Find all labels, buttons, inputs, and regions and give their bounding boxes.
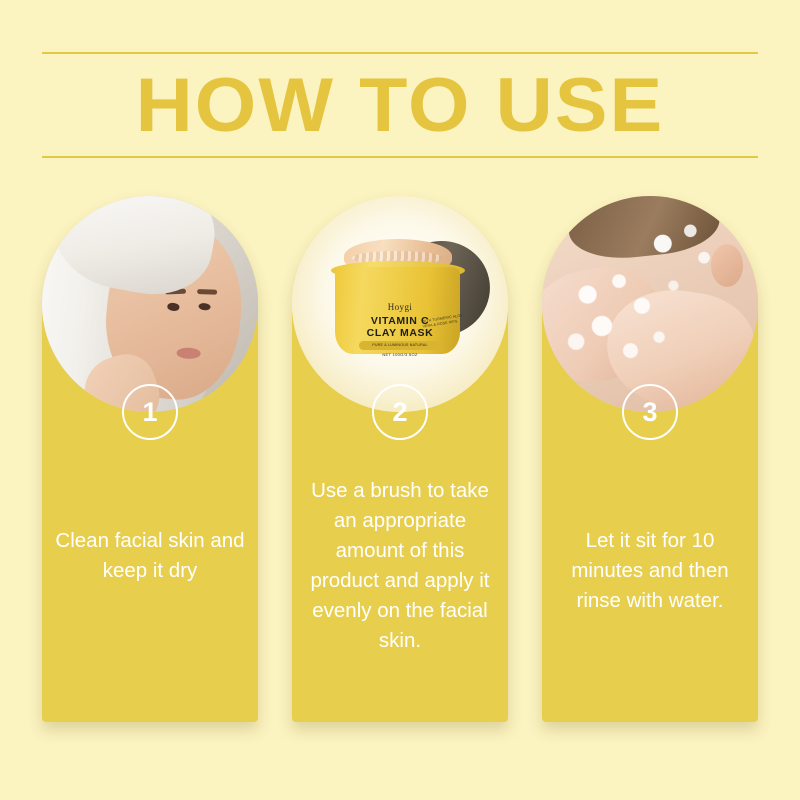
eyebrow-right [197,289,217,295]
eye-right [198,302,211,310]
product-name: VITAMIN CCLAY MASK [292,315,508,339]
step-card-2: Hoygi VITAMIN CCLAY MASK WITH TURMERIC A… [292,196,508,722]
product-net-weight: NET 100G/3.5OZ [292,352,508,357]
step-3-photo [542,196,758,412]
step-caption-2: Use a brush to take an appropriate amoun… [304,476,496,656]
product-name-line1: VITAMIN C [371,315,429,327]
step-caption-1: Clean facial skin and keep it dry [54,526,246,586]
step-caption-3: Let it sit for 10 minutes and then rinse… [554,526,746,616]
infographic-page: HOW TO USE 1 Clean facial skin and keep [0,0,800,800]
step-number-badge-2: 2 [372,384,428,440]
step-card-3: 3 Let it sit for 10 minutes and then rin… [542,196,758,722]
page-header: HOW TO USE [42,52,758,158]
title-rule-top [42,52,758,54]
title-rule-bottom [42,156,758,158]
product-pill-banner: PURE & LUMINOUS NATURAL [359,341,441,351]
step-card-1: 1 Clean facial skin and keep it dry [42,196,258,722]
step-1-photo [42,196,258,412]
step-number-badge-1: 1 [122,384,178,440]
product-brand: Hoygi [292,302,508,312]
steps-row: 1 Clean facial skin and keep it dry Hoyg… [42,196,758,722]
step-number-badge-3: 3 [622,384,678,440]
eye-left [167,303,180,311]
step-2-photo: Hoygi VITAMIN CCLAY MASK WITH TURMERIC A… [292,196,508,412]
water-droplets [637,218,723,283]
page-title: HOW TO USE [28,60,773,152]
lips [176,347,200,358]
